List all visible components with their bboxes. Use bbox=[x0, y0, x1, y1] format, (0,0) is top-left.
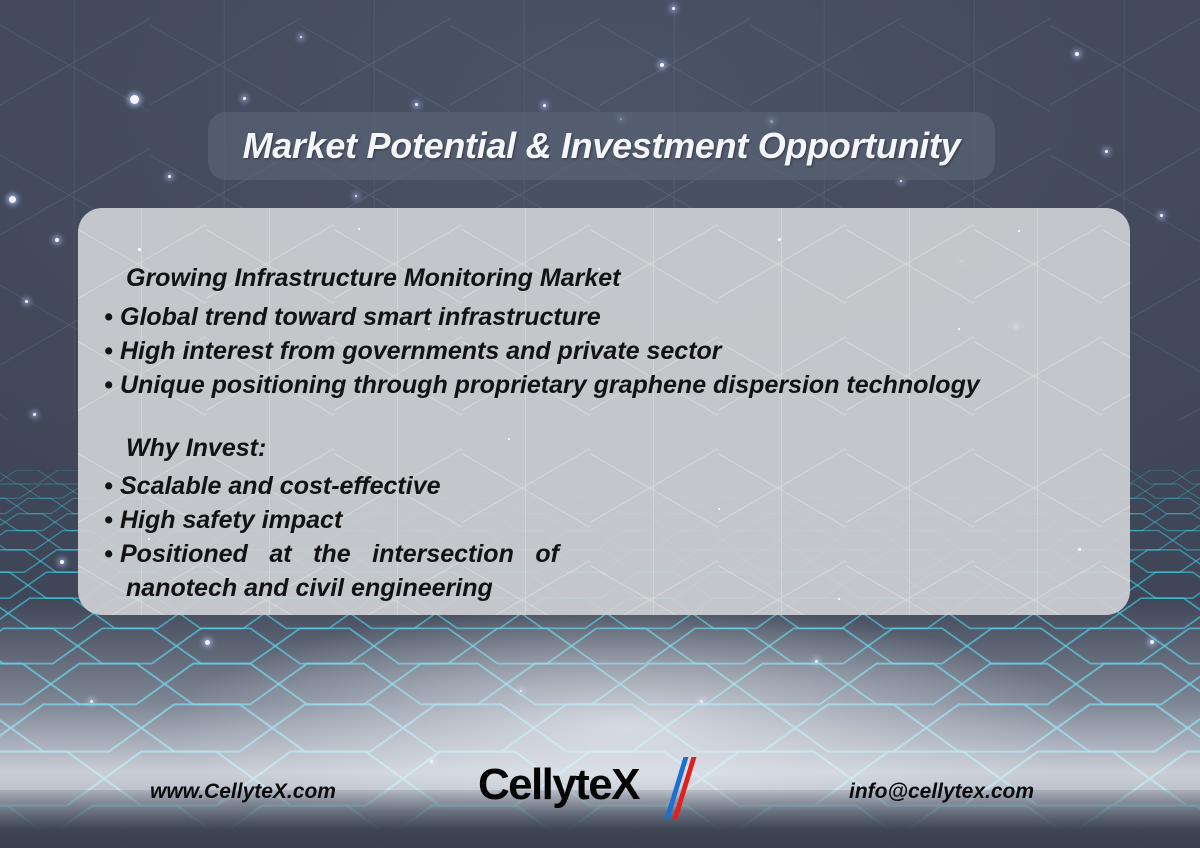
hex-cell bbox=[374, 628, 473, 663]
hex-cell bbox=[0, 550, 41, 572]
bullet-group-invest: Why Invest: •Scalable and cost-effective… bbox=[104, 432, 764, 606]
hex-cell bbox=[1076, 664, 1190, 705]
bullet-content: Growing Infrastructure Monitoring Market… bbox=[104, 262, 764, 605]
title-banner: Market Potential & Investment Opportunit… bbox=[208, 112, 995, 180]
hex-cell bbox=[848, 664, 962, 705]
hex-cell bbox=[670, 628, 769, 663]
star-dot-icon bbox=[33, 413, 36, 416]
hex-cell bbox=[0, 531, 49, 550]
star-dot-icon bbox=[9, 196, 16, 203]
hex-cell bbox=[0, 470, 6, 484]
star-dot-icon bbox=[355, 195, 357, 197]
star-dot-icon bbox=[300, 36, 302, 38]
hex-cell bbox=[176, 628, 275, 663]
list-item: •High safety impact bbox=[104, 503, 764, 537]
hex-cell bbox=[1145, 484, 1188, 498]
hex-cell bbox=[1137, 572, 1200, 598]
hex-cell bbox=[1132, 550, 1196, 572]
hex-cell bbox=[1066, 628, 1165, 663]
hex-cell bbox=[78, 628, 177, 663]
star-dot-icon bbox=[25, 300, 28, 303]
list-item-label: Scalable and cost-effective bbox=[120, 472, 441, 500]
section-heading-market: Growing Infrastructure Monitoring Market bbox=[104, 262, 764, 295]
sparkle-dot-icon bbox=[138, 248, 141, 251]
hex-cell bbox=[1196, 550, 1200, 572]
hex-cell bbox=[1190, 664, 1200, 705]
list-item: •High interest from governments and priv… bbox=[104, 334, 764, 368]
star-dot-icon bbox=[243, 97, 246, 100]
bullet-dot-icon: • bbox=[104, 334, 120, 368]
list-item-label: High interest from governments and priva… bbox=[120, 337, 722, 365]
hex-cell bbox=[572, 628, 671, 663]
cellytex-logo: CellyteX bbox=[478, 760, 718, 822]
star-dot-icon bbox=[1160, 214, 1163, 217]
sparkle-dot-icon bbox=[1018, 230, 1020, 232]
hex-cell bbox=[51, 664, 165, 705]
hex-cell bbox=[868, 628, 967, 663]
page-title: Market Potential & Investment Opportunit… bbox=[243, 125, 961, 167]
bullet-dot-icon: • bbox=[104, 368, 120, 402]
list-item-continuation: nanotech and civil engineering bbox=[104, 571, 764, 605]
hex-cell bbox=[279, 664, 393, 705]
hex-cell bbox=[1188, 484, 1200, 498]
star-dot-icon bbox=[415, 103, 418, 106]
bullet-dot-icon: • bbox=[104, 503, 120, 537]
content-panel: Growing Infrastructure Monitoring Market… bbox=[78, 208, 1130, 615]
sparkle-dot-icon bbox=[838, 598, 840, 600]
hex-cell bbox=[0, 498, 17, 513]
hex-cell bbox=[0, 628, 78, 663]
star-dot-icon bbox=[660, 63, 664, 67]
hex-cell bbox=[275, 628, 374, 663]
hex-cell bbox=[5, 514, 55, 531]
list-item: •Scalable and cost-effective bbox=[104, 469, 764, 503]
slide-canvas: Market Potential & Investment Opportunit… bbox=[0, 0, 1200, 848]
hex-cell bbox=[1140, 470, 1182, 484]
hex-cell bbox=[0, 664, 51, 705]
hex-cell bbox=[17, 498, 63, 513]
hex-cell bbox=[1165, 628, 1200, 663]
list-item-label: Unique positioning through proprietary g… bbox=[120, 371, 980, 399]
hex-cell bbox=[1155, 514, 1200, 531]
hex-cell bbox=[30, 484, 73, 498]
list-item: •Unique positioning through proprietary … bbox=[104, 368, 764, 402]
bullet-dot-icon: • bbox=[104, 300, 120, 334]
star-dot-icon bbox=[543, 104, 546, 107]
list-item: •Positioned at the intersection of bbox=[104, 537, 559, 571]
sparkle-dot-icon bbox=[358, 228, 360, 230]
star-dot-icon bbox=[55, 238, 59, 242]
hex-cell bbox=[165, 664, 279, 705]
section-heading-invest: Why Invest: bbox=[104, 432, 764, 465]
hex-cell bbox=[393, 664, 507, 705]
list-item-label: Global trend toward smart infrastructure bbox=[120, 303, 601, 331]
hex-cell bbox=[1182, 470, 1200, 484]
sparkle-dot-icon bbox=[958, 328, 960, 330]
hex-cell bbox=[769, 628, 868, 663]
footer-website[interactable]: www.CellyteX.com bbox=[150, 780, 336, 804]
hex-cell bbox=[967, 628, 1066, 663]
footer: www.CellyteX.com CellyteX info@cellytex.… bbox=[0, 728, 1200, 848]
footer-email[interactable]: info@cellytex.com bbox=[849, 780, 1034, 804]
list-item-label: High safety impact bbox=[120, 506, 342, 534]
star-dot-icon bbox=[1075, 52, 1079, 56]
hex-cell bbox=[620, 664, 734, 705]
bullet-dot-icon: • bbox=[104, 469, 120, 503]
hex-cell bbox=[473, 628, 572, 663]
hex-cell bbox=[506, 664, 620, 705]
hex-cell bbox=[962, 664, 1076, 705]
bullet-dot-icon: • bbox=[104, 537, 120, 571]
star-dot-icon bbox=[168, 175, 171, 178]
star-dot-icon bbox=[130, 95, 139, 104]
hex-cell bbox=[0, 484, 30, 498]
hex-cell bbox=[6, 470, 48, 484]
star-dot-icon bbox=[1105, 150, 1108, 153]
star-dot-icon bbox=[672, 7, 675, 10]
sparkle-dot-icon bbox=[1078, 548, 1081, 551]
sparkle-dot-icon bbox=[778, 238, 781, 241]
hex-cell bbox=[1120, 598, 1200, 628]
hex-cell bbox=[0, 572, 28, 598]
hex-cell bbox=[1155, 498, 1200, 513]
hex-cell bbox=[1173, 531, 1200, 550]
list-item-label: Positioned at the intersection of bbox=[120, 540, 559, 568]
star-dot-icon bbox=[900, 180, 902, 182]
list-item: •Global trend toward smart infrastructur… bbox=[104, 300, 764, 334]
hex-cell bbox=[734, 664, 848, 705]
